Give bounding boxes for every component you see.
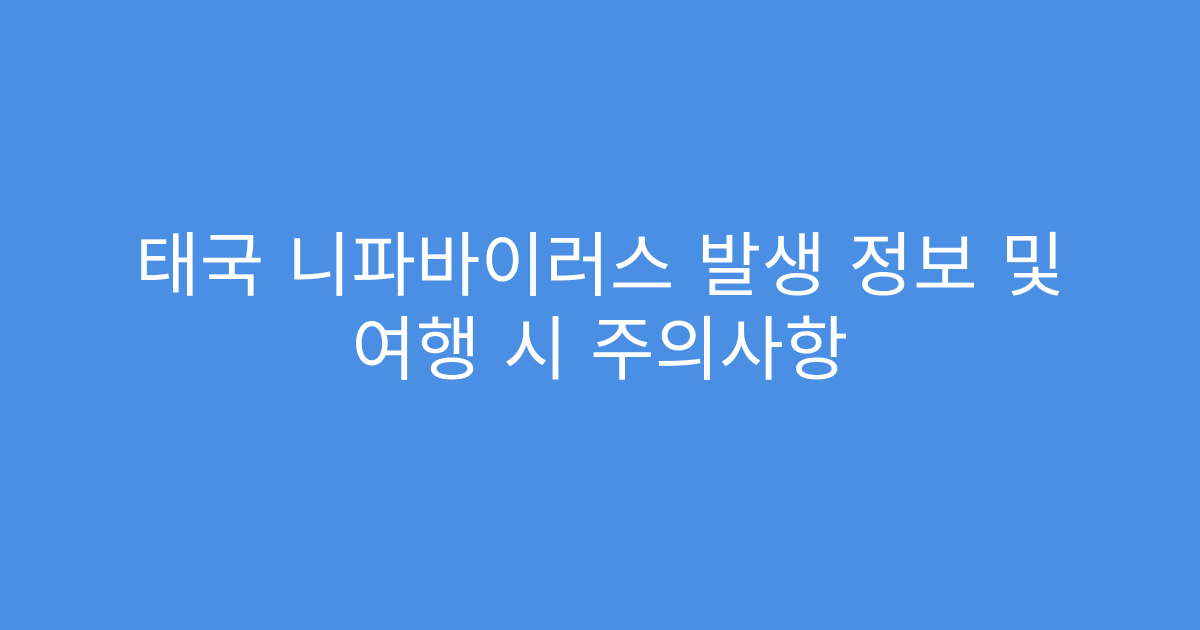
headline-block: 태국 니파바이러스 발생 정보 및 여행 시 주의사항 — [70, 224, 1130, 406]
headline-line-2: 여행 시 주의사항 — [351, 308, 848, 392]
headline-line-1: 태국 니파바이러스 발생 정보 및 — [135, 224, 1065, 308]
banner-card: 태국 니파바이러스 발생 정보 및 여행 시 주의사항 — [0, 0, 1200, 630]
